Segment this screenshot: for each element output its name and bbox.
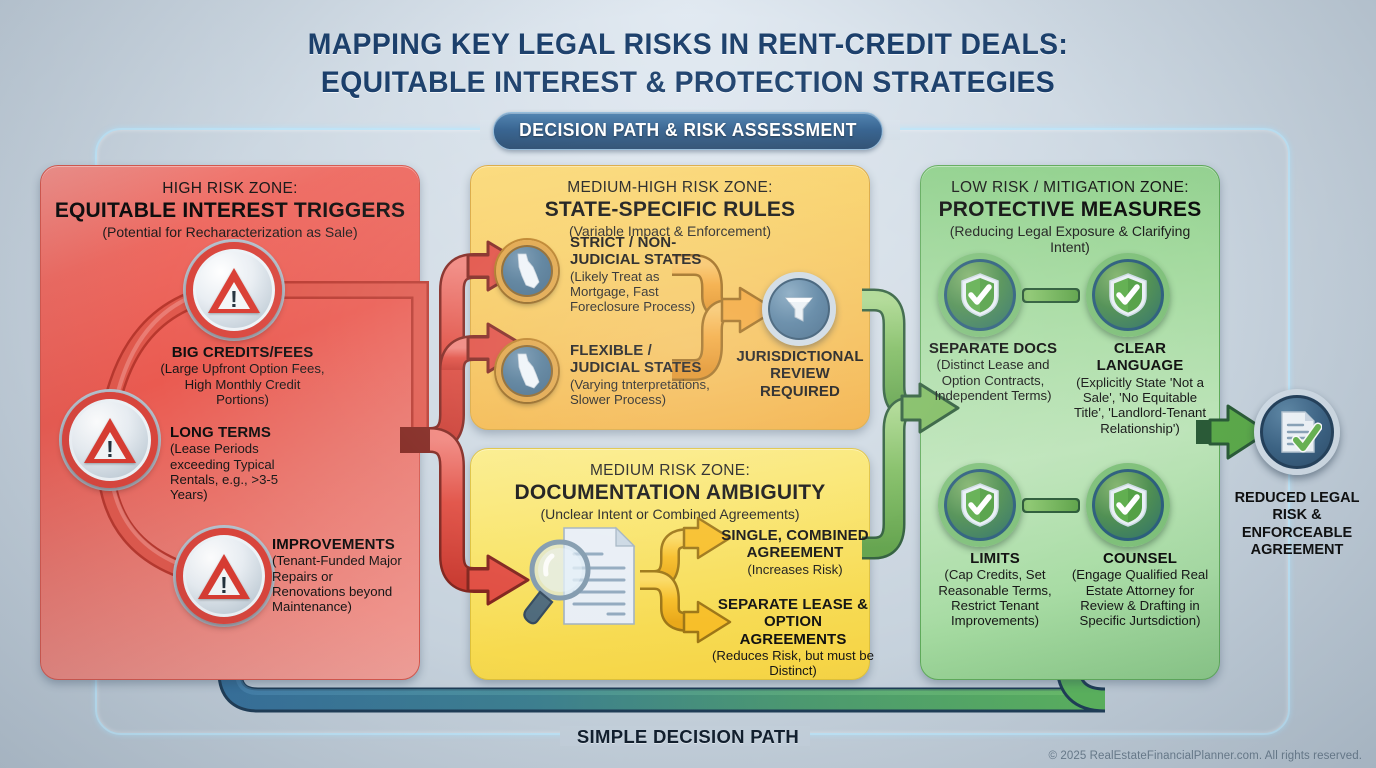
red-item-2-heading: LONG TERMS [170,424,292,441]
header-badge: DECISION PATH & RISK ASSESSMENT [493,112,883,150]
panel-yellow-title: DOCUMENTATION AMBIGUITY [483,481,857,505]
state-map-icon-2 [496,340,558,402]
panel-green-zone-label: LOW RISK / MITIGATION ZONE: [931,179,1209,197]
red-item-1-heading: BIG CREDITS/FEES [160,344,325,361]
panel-red-zone-label: HIGH RISK ZONE: [53,180,407,198]
bottom-label: SIMPLE DECISION PATH [577,726,799,748]
shield-check-icon-4 [1086,463,1170,547]
red-item-3-heading: IMPROVEMENTS [272,536,402,553]
yellow-branch-1-heading: SINGLE, COMBINED AGREEMENT [716,527,874,562]
red-item-1-detail: (Large Upfront Option Fees, High Monthly… [160,361,325,407]
shield-check-icon-3 [938,463,1022,547]
green-item-3-heading: LIMITS [930,550,1060,567]
orange-outcome-heading: JURISDICTIONAL REVIEW REQUIRED [730,348,870,400]
yellow-branch-2-detail: (Reduces Risk, but must be Distinct) [710,648,876,679]
orange-item-2-detail: (Varying tnterpretations, Slower Process… [570,377,710,408]
panel-red-title: EQUITABLE INTEREST TRIGGERS [53,199,407,223]
red-item-3-label: IMPROVEMENTS (Tenant-Funded Major Repair… [272,536,402,615]
panel-orange-zone-label: MEDIUM-HIGH RISK ZONE: [483,179,857,197]
panel-red-subtitle: (Potential for Recharacterization as Sal… [53,224,407,240]
green-item-1-detail: (Distinct Lease and Option Contracts, In… [928,357,1058,403]
panel-yellow-zone-label: MEDIUM RISK ZONE: [483,462,857,480]
yellow-branch-1-label: SINGLE, COMBINED AGREEMENT (Increases Ri… [716,527,874,577]
page-title: MAPPING KEY LEGAL RISKS IN RENT-CREDIT D… [0,26,1376,102]
red-item-2-detail: (Lease Periods exceeding Typical Rentals… [170,441,292,502]
warning-triangle-icon-3: ! [176,528,272,624]
magnifier-document-icon [518,520,648,645]
yellow-branch-2-label: SEPARATE LEASE & OPTION AGREEMENTS (Redu… [710,596,876,679]
green-item-4-detail: (Engage Qualified Real Estate Attorney f… [1070,567,1210,628]
green-item-3-label: LIMITS (Cap Credits, Set Reasonable Term… [930,550,1060,629]
orange-item-1-heading: STRICT / NON-JUDICIAL STATES [570,234,705,269]
panel-green-title: PROTECTIVE MEASURES [931,198,1209,222]
green-item-1-label: SEPARATE DOCS (Distinct Lease and Option… [928,340,1058,403]
yellow-branch-1-detail: (Increases Risk) [716,562,874,577]
red-item-3-detail: (Tenant-Funded Major Repairs or Renovati… [272,553,402,614]
red-item-1-label: BIG CREDITS/FEES (Large Upfront Option F… [160,344,325,407]
shield-check-icon-1 [938,253,1022,337]
funnel-icon [762,272,836,346]
title-line-1: MAPPING KEY LEGAL RISKS IN RENT-CREDIT D… [28,26,1349,64]
title-line-2: EQUITABLE INTEREST & PROTECTION STRATEGI… [28,64,1349,102]
copyright-text: © 2025 RealEstateFinancialPlanner.com. A… [1048,750,1362,762]
green-item-2-detail: (Explicitly State 'Not a Sale', 'No Equi… [1072,375,1208,436]
warning-triangle-icon-2: ! [62,392,158,488]
document-check-icon [1254,389,1340,475]
green-item-4-label: COUNSEL (Engage Qualified Real Estate At… [1070,550,1210,629]
green-item-2-heading: CLEAR LANGUAGE [1072,340,1208,375]
panel-orange-title: STATE-SPECIFIC RULES [483,198,857,222]
orange-outcome-label: JURISDICTIONAL REVIEW REQUIRED [730,348,870,400]
panel-green-subtitle: (Reducing Legal Exposure & Clarifying In… [931,223,1209,255]
green-item-2-label: CLEAR LANGUAGE (Explicitly State 'Not a … [1072,340,1208,436]
orange-item-1-label: STRICT / NON-JUDICIAL STATES (Likely Tre… [570,234,705,315]
yellow-branch-2-heading: SEPARATE LEASE & OPTION AGREEMENTS [710,596,876,648]
green-item-1-heading: SEPARATE DOCS [928,340,1058,357]
outcome-label: REDUCED LEGAL RISK & ENFORCEABLE AGREEME… [1216,490,1376,560]
state-map-icon-1 [496,240,558,302]
orange-item-1-detail: (Likely Treat as Mortgage, Fast Foreclos… [570,269,705,315]
red-item-2-label: LONG TERMS (Lease Periods exceeding Typi… [170,424,292,503]
orange-item-2-label: FLEXIBLE / JUDICIAL STATES (Varying tnte… [570,342,710,407]
green-item-4-heading: COUNSEL [1070,550,1210,567]
warning-triangle-icon-1: ! [186,242,282,338]
green-item-3-detail: (Cap Credits, Set Reasonable Terms, Rest… [930,567,1060,628]
shield-check-icon-2 [1086,253,1170,337]
orange-item-2-heading: FLEXIBLE / JUDICIAL STATES [570,342,710,377]
